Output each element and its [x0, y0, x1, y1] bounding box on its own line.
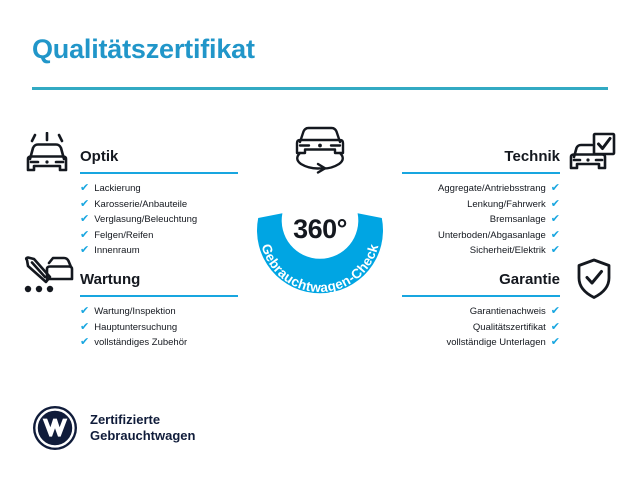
checklist-wartung: ✔Wartung/Inspektion ✔Hauptuntersuchung ✔… [80, 304, 238, 351]
check-icon: ✔ [80, 245, 89, 256]
footer-line-2: Gebrauchtwagen [90, 428, 195, 444]
check-icon: ✔ [80, 183, 89, 194]
list-item: ✔Felgen/Reifen [80, 228, 238, 244]
check-icon: ✔ [551, 183, 560, 194]
section-underline [402, 295, 560, 297]
list-item: ✔Innenraum [80, 243, 238, 259]
list-item: ✔Aggregate/Antriebsstrang [402, 181, 560, 197]
wrench-car-icon [22, 255, 74, 302]
list-item: ✔Karosserie/Anbauteile [80, 197, 238, 213]
section-title-technik: Technik [402, 148, 560, 166]
list-item-label: Unterboden/Abgasanlage [438, 228, 546, 244]
check-icon: ✔ [80, 322, 89, 333]
check-icon: ✔ [80, 199, 89, 210]
check-icon: ✔ [551, 245, 560, 256]
list-item-label: Garantienachweis [470, 304, 546, 320]
check-icon: ✔ [80, 337, 89, 348]
list-item: ✔Verglasung/Beleuchtung [80, 212, 238, 228]
section-underline [80, 172, 238, 174]
list-item: ✔Qualitätszertifikat [402, 320, 560, 336]
car-front-shine-icon [22, 132, 72, 183]
list-item: ✔Hauptuntersuchung [80, 320, 238, 336]
checklist-technik: ✔Aggregate/Antriebsstrang ✔Lenkung/Fahrw… [402, 181, 560, 259]
section-underline [80, 295, 238, 297]
car-rotation-360-icon [278, 122, 362, 174]
list-item-label: Aggregate/Antriebsstrang [438, 181, 546, 197]
list-item: ✔Unterboden/Abgasanlage [402, 228, 560, 244]
list-item-label: Bremsanlage [490, 212, 546, 228]
list-item: ✔Garantienachweis [402, 304, 560, 320]
check-icon: ✔ [80, 230, 89, 241]
list-item-label: Karosserie/Anbauteile [94, 197, 187, 213]
section-technik: Technik ✔Aggregate/Antriebsstrang ✔Lenku… [402, 148, 560, 259]
list-item-label: Verglasung/Beleuchtung [94, 212, 197, 228]
section-garantie: Garantie ✔Garantienachweis ✔Qualitätszer… [402, 271, 560, 351]
shield-check-icon [576, 258, 612, 305]
footer-text: Zertifizierte Gebrauchtwagen [90, 412, 195, 444]
list-item-label: Sicherheit/Elektrik [470, 243, 546, 259]
check-icon: ✔ [80, 306, 89, 317]
section-title-garantie: Garantie [402, 271, 560, 289]
list-item: ✔Sicherheit/Elektrik [402, 243, 560, 259]
list-item-label: vollständiges Zubehör [94, 335, 187, 351]
checklist-garantie: ✔Garantienachweis ✔Qualitätszertifikat ✔… [402, 304, 560, 351]
list-item: ✔Wartung/Inspektion [80, 304, 238, 320]
list-item-label: vollständige Unterlagen [446, 335, 545, 351]
list-item: ✔Lenkung/Fahrwerk [402, 197, 560, 213]
section-title-optik: Optik [80, 148, 238, 166]
check-icon: ✔ [551, 230, 560, 241]
check-icon: ✔ [551, 199, 560, 210]
check-icon: ✔ [551, 214, 560, 225]
certificate-page: Qualitätszertifikat [0, 0, 640, 480]
list-item-label: Felgen/Reifen [94, 228, 153, 244]
car-checkbox-icon [568, 132, 616, 183]
checklist-optik: ✔Lackierung ✔Karosserie/Anbauteile ✔Verg… [80, 181, 238, 259]
list-item: ✔Lackierung [80, 181, 238, 197]
list-item-label: Hauptuntersuchung [94, 320, 177, 336]
list-item: ✔vollständige Unterlagen [402, 335, 560, 351]
section-underline [402, 172, 560, 174]
header-divider [32, 87, 608, 90]
section-header: Optik [80, 148, 238, 174]
badge-degrees-label: 360° [244, 156, 396, 308]
section-wartung: Wartung ✔Wartung/Inspektion ✔Hauptunters… [80, 271, 238, 351]
section-header: Garantie [402, 271, 560, 297]
check-icon: ✔ [551, 337, 560, 348]
check-icon: ✔ [80, 214, 89, 225]
section-title-wartung: Wartung [80, 271, 238, 289]
list-item: ✔Bremsanlage [402, 212, 560, 228]
list-item: ✔vollständiges Zubehör [80, 335, 238, 351]
section-header: Wartung [80, 271, 238, 297]
check-icon: ✔ [551, 306, 560, 317]
section-header: Technik [402, 148, 560, 174]
footer-line-1: Zertifizierte [90, 412, 195, 428]
page-title: Qualitätszertifikat [32, 34, 255, 65]
vw-logo [32, 405, 78, 451]
check-icon: ✔ [551, 322, 560, 333]
section-optik: Optik ✔Lackierung ✔Karosserie/Anbauteile… [80, 148, 238, 259]
list-item-label: Innenraum [94, 243, 139, 259]
badge-360-gebrauchtwagen-check: Gebrauchtwagen-Check 360° [244, 156, 396, 308]
list-item-label: Qualitätszertifikat [473, 320, 546, 336]
footer-brand-lockup: Zertifizierte Gebrauchtwagen [32, 405, 195, 451]
list-item-label: Lackierung [94, 181, 140, 197]
list-item-label: Lenkung/Fahrwerk [467, 197, 546, 213]
list-item-label: Wartung/Inspektion [94, 304, 176, 320]
